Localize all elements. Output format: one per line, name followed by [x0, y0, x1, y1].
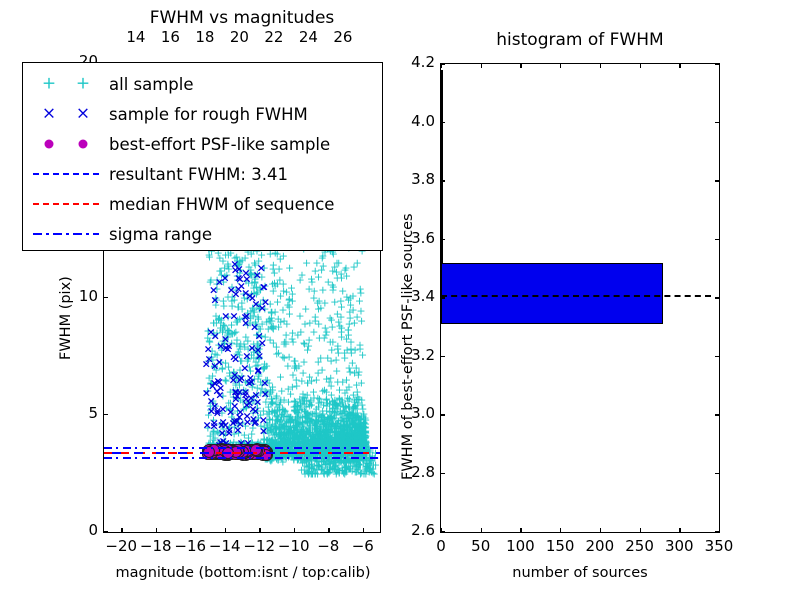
y-tick: [441, 473, 445, 474]
scatter-point-all: +: [328, 284, 337, 295]
y-tick-right: [715, 473, 719, 474]
x-tick-top: [560, 64, 561, 68]
legend-label: median FHWM of sequence: [109, 195, 334, 214]
y-tick-right: [715, 63, 719, 64]
x-tick: [190, 528, 191, 532]
x-tick-top-label: 26: [319, 28, 367, 46]
histogram-bar: [441, 70, 443, 79]
scatter-point-all: +: [338, 396, 347, 407]
scatter-point-all: +: [301, 303, 310, 314]
x-tick-label: 350: [695, 537, 743, 555]
scatter-point-rough: ×: [221, 420, 230, 431]
scatter-point-rough: ×: [259, 426, 268, 437]
scatter-point-rough: ×: [211, 331, 220, 342]
histogram-bar: [441, 79, 443, 140]
scatter-point-all: +: [341, 464, 350, 475]
scatter-point-all: +: [268, 278, 277, 289]
y-tick-label: 5: [50, 404, 98, 422]
legend-label: all sample: [109, 75, 194, 94]
x-tick-label: −6: [339, 537, 387, 555]
y-tick-label: 4.0: [385, 112, 435, 130]
dot-marker-icon: [79, 140, 88, 149]
x-tick: [363, 528, 364, 532]
sigma-range-low-line: [104, 457, 380, 459]
legend-label: best-effort PSF-like sample: [109, 135, 330, 154]
legend-item-3[interactable]: resultant FWHM: 3.41: [23, 159, 382, 189]
scatter-point-all: +: [322, 394, 331, 405]
y-tick-label: 3.8: [385, 170, 435, 188]
scatter-point-rough: ×: [229, 310, 238, 321]
x-tick: [600, 528, 601, 532]
scatter-point-all: +: [274, 263, 283, 274]
histogram-median-line: [441, 295, 711, 297]
scatter-point-rough: ×: [241, 268, 250, 279]
y-tick-right: [715, 180, 719, 181]
x-tick-top: [600, 64, 601, 68]
cross-marker-icon: ×: [76, 106, 90, 123]
scatter-point-all: +: [325, 313, 334, 324]
scatter-point-rough: ×: [231, 386, 240, 397]
x-tick: [225, 528, 226, 532]
legend-item-1[interactable]: ××sample for rough FWHM: [23, 99, 382, 129]
legend-item-2[interactable]: best-effort PSF-like sample: [23, 129, 382, 159]
scatter-point-all: +: [333, 417, 342, 428]
x-tick-top: [719, 64, 720, 68]
scatter-point-all: +: [311, 418, 320, 429]
y-tick-right: [715, 297, 719, 298]
y-tick-right: [715, 414, 719, 415]
legend-handle-dot-icon: [23, 129, 109, 159]
scatter-point-all: +: [358, 350, 367, 361]
scatter-point-all: +: [299, 396, 308, 407]
left-xaxis-label: magnitude (bottom:isnt / top:calib): [83, 565, 403, 581]
histogram-bar: [441, 263, 663, 324]
scatter-point-all: +: [314, 303, 323, 314]
scatter-point-rough: ×: [253, 269, 262, 280]
scatter-point-all: +: [280, 337, 289, 348]
scatter-point-rough: ×: [259, 282, 268, 293]
plus-marker-icon: +: [76, 76, 90, 93]
scatter-point-all: +: [292, 362, 301, 373]
legend-item-5[interactable]: sigma range: [23, 219, 382, 249]
y-tick: [104, 297, 108, 298]
legend-label: sample for rough FWHM: [109, 105, 308, 124]
y-tick: [441, 180, 445, 181]
x-tick: [520, 528, 521, 532]
scatter-point-all: +: [285, 294, 294, 305]
scatter-point-all: +: [318, 252, 327, 263]
legend-handle-cross-icon: ××: [23, 99, 109, 129]
scatter-point-rough: ×: [215, 277, 224, 288]
y-tick: [441, 122, 445, 123]
x-tick: [560, 528, 561, 532]
y-tick-label: 0: [50, 521, 98, 539]
y-tick: [441, 63, 445, 64]
scatter-point-all: +: [349, 304, 358, 315]
scatter-point-all: +: [345, 318, 354, 329]
y-tick: [441, 356, 445, 357]
scatter-point-all: +: [324, 377, 333, 388]
scatter-point-all: +: [330, 296, 339, 307]
right-plot-area: [441, 64, 719, 532]
legend-item-0[interactable]: ++all sample: [23, 69, 382, 99]
cross-marker-icon: ×: [42, 106, 56, 123]
scatter-point-rough: ×: [230, 369, 239, 380]
legend-label: resultant FWHM: 3.41: [109, 165, 288, 184]
scatter-point-all: +: [300, 431, 309, 442]
scatter-point-rough: ×: [242, 311, 251, 322]
scatter-point-rough: ×: [221, 311, 230, 322]
scatter-point-all: +: [303, 344, 312, 355]
right-panel-title: histogram of FWHM: [440, 30, 720, 50]
scatter-point-rough: ×: [203, 420, 212, 431]
dashed-line-icon: [33, 203, 99, 205]
sigma-range-high-line: [104, 447, 380, 449]
scatter-point-all: +: [319, 465, 328, 476]
scatter-point-all: +: [317, 365, 326, 376]
scatter-point-rough: ×: [216, 382, 225, 393]
scatter-point-all: +: [317, 264, 326, 275]
scatter-point-all: +: [277, 385, 286, 396]
dot-marker-icon: [45, 140, 54, 149]
resultant-fwhm-line: [104, 452, 380, 454]
scatter-point-rough: ×: [248, 343, 257, 354]
scatter-point-rough: ×: [260, 378, 269, 389]
y-tick: [104, 531, 108, 532]
scatter-point-all: +: [356, 288, 365, 299]
scatter-point-rough: ×: [230, 259, 239, 270]
scatter-point-all: +: [297, 376, 306, 387]
y-tick: [441, 531, 445, 532]
x-tick-top: [481, 64, 482, 68]
scatter-point-rough: ×: [205, 353, 214, 364]
legend-handle-plus-icon: ++: [23, 69, 109, 99]
scatter-point-rough: ×: [244, 377, 253, 388]
y-tick-right: [715, 531, 719, 532]
scatter-point-all: +: [309, 326, 318, 337]
y-tick-right: [715, 356, 719, 357]
scatter-point-all: +: [274, 314, 283, 325]
scatter-point-all: +: [332, 365, 341, 376]
scatter-point-all: +: [354, 366, 363, 377]
x-tick: [481, 528, 482, 532]
scatter-point-all: +: [279, 251, 288, 262]
x-tick: [679, 528, 680, 532]
scatter-point-all: +: [307, 376, 316, 387]
scatter-point-rough: ×: [258, 303, 267, 314]
scatter-point-all: +: [338, 286, 347, 297]
x-tick-top: [520, 64, 521, 68]
histogram-bar: [441, 140, 443, 201]
x-tick-top: [640, 64, 641, 68]
plus-marker-icon: +: [42, 76, 56, 93]
dashdot-line-icon: [33, 233, 99, 235]
scatter-point-all: +: [268, 426, 277, 437]
scatter-point-rough: ×: [242, 399, 251, 410]
right-xaxis-label: number of sources: [450, 565, 710, 581]
scatter-point-all: +: [296, 274, 305, 285]
scatter-point-all: +: [335, 385, 344, 396]
y-tick: [104, 414, 108, 415]
scatter-point-all: +: [285, 308, 294, 319]
legend-box: ++all sample××sample for rough FWHMbest-…: [22, 62, 383, 251]
x-tick-top: [679, 64, 680, 68]
figure-canvas: FWHM vs magnitudes 14161820222426 ++++++…: [0, 0, 800, 600]
histogram-bar: [441, 201, 443, 262]
scatter-point-all: +: [283, 416, 292, 427]
scatter-point-all: +: [328, 337, 337, 348]
scatter-point-rough: ×: [255, 330, 264, 341]
x-tick: [294, 528, 295, 532]
y-tick: [441, 239, 445, 240]
x-tick: [121, 528, 122, 532]
scatter-point-all: +: [311, 467, 320, 478]
scatter-point-all: +: [278, 351, 287, 362]
x-tick: [640, 528, 641, 532]
scatter-point-rough: ×: [223, 343, 232, 354]
y-tick-right: [715, 122, 719, 123]
legend-handle-dashdot-icon: [23, 219, 109, 249]
scatter-point-all: +: [341, 431, 350, 442]
left-panel-title: FWHM vs magnitudes: [103, 8, 381, 28]
x-tick: [259, 528, 260, 532]
y-tick: [441, 297, 445, 298]
legend-label: sigma range: [109, 225, 212, 244]
scatter-point-rough: ×: [210, 294, 219, 305]
x-tick: [328, 528, 329, 532]
left-yaxis-label: FWHM (pix): [58, 276, 74, 360]
scatter-point-all: +: [307, 273, 316, 284]
scatter-point-all: +: [340, 348, 349, 359]
scatter-point-all: +: [269, 338, 278, 349]
legend-item-4[interactable]: median FHWM of sequence: [23, 189, 382, 219]
scatter-point-all: +: [285, 263, 294, 274]
right-yaxis-label: FWHM of best-effort PSF-like sources: [400, 213, 416, 480]
scatter-point-all: +: [276, 371, 285, 382]
legend-handle-dashed-icon: [23, 159, 109, 189]
scatter-point-rough: ×: [240, 363, 249, 374]
scatter-point-rough: ×: [235, 411, 244, 422]
x-tick: [156, 528, 157, 532]
x-tick: [719, 528, 720, 532]
y-tick-label: 4.2: [385, 53, 435, 71]
scatter-point-all: +: [353, 392, 362, 403]
y-tick: [441, 414, 445, 415]
scatter-point-rough: ×: [227, 285, 236, 296]
y-tick-right: [715, 239, 719, 240]
scatter-point-rough: ×: [245, 290, 254, 301]
scatter-point-rough: ×: [253, 397, 262, 408]
dashed-line-icon: [33, 173, 99, 175]
legend-handle-dashed-icon: [23, 189, 109, 219]
scatter-point-rough: ×: [213, 406, 222, 417]
